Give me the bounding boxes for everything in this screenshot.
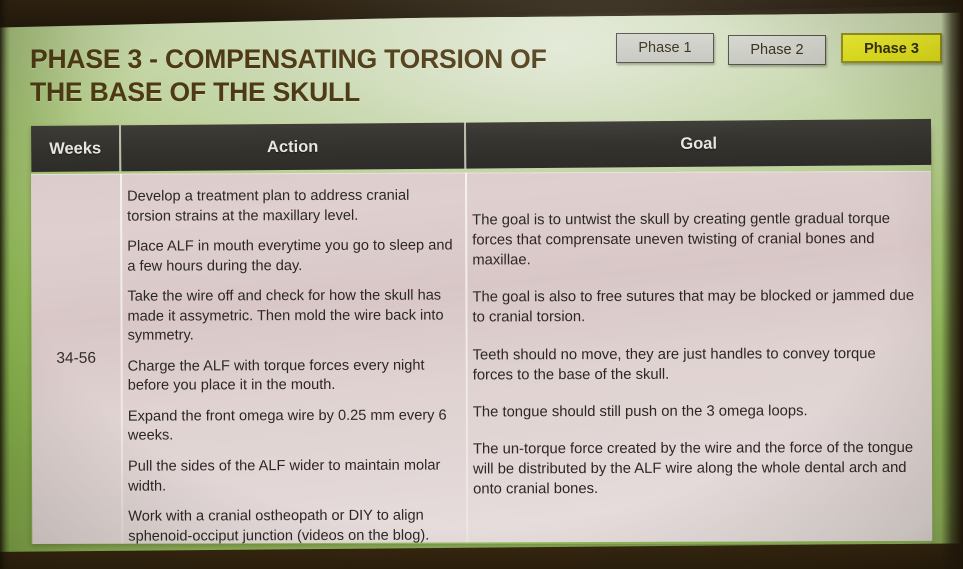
goal-item: The un-torque force created by the wire …	[473, 438, 919, 500]
phase-nav: Phase 1 Phase 2 Phase 3	[616, 33, 946, 67]
column-header-weeks: Weeks	[31, 125, 121, 172]
phase-3-table: Weeks Action Goal 34-56 Develop a treatm…	[31, 126, 931, 544]
slide-photo: PHASE 3 - COMPENSATING TORSION OF THE BA…	[0, 0, 963, 569]
phase-1-button[interactable]: Phase 1	[616, 33, 714, 63]
column-header-goal: Goal	[466, 119, 931, 169]
goal-item: The tongue should still push on the 3 om…	[473, 401, 919, 423]
goal-item: The goal is also to free sutures that ma…	[472, 286, 918, 328]
action-item: Charge the ALF with torque forces every …	[128, 356, 454, 396]
cell-weeks: 34-56	[31, 174, 121, 544]
phase-2-button[interactable]: Phase 2	[728, 35, 826, 65]
table-row: 34-56 Develop a treatment plan to addres…	[31, 171, 932, 544]
goal-item: Teeth should no move, they are just hand…	[473, 343, 919, 385]
column-divider-action-goal	[465, 172, 468, 542]
action-item: Expand the front omega wire by 0.25 mm e…	[128, 406, 454, 446]
page-title: PHASE 3 - COMPENSATING TORSION OF THE BA…	[30, 43, 590, 110]
phase-3-button[interactable]: Phase 3	[841, 33, 942, 63]
action-item: Place ALF in mouth everytime you go to s…	[127, 237, 453, 277]
action-item: Pull the sides of the ALF wider to maint…	[128, 457, 454, 497]
table-header-row: Weeks Action Goal	[31, 119, 931, 172]
action-item: Work with a cranial ostheopath or DIY to…	[128, 507, 454, 547]
action-item: Develop a treatment plan to address cran…	[127, 187, 453, 227]
action-item: Take the wire off and check for how the …	[127, 287, 453, 347]
cell-goal: The goal is to untwist the skull by crea…	[472, 209, 929, 541]
goal-item: The goal is to untwist the skull by crea…	[472, 209, 918, 271]
cell-action: Develop a treatment plan to address cran…	[127, 186, 462, 537]
column-header-action: Action	[121, 123, 466, 172]
